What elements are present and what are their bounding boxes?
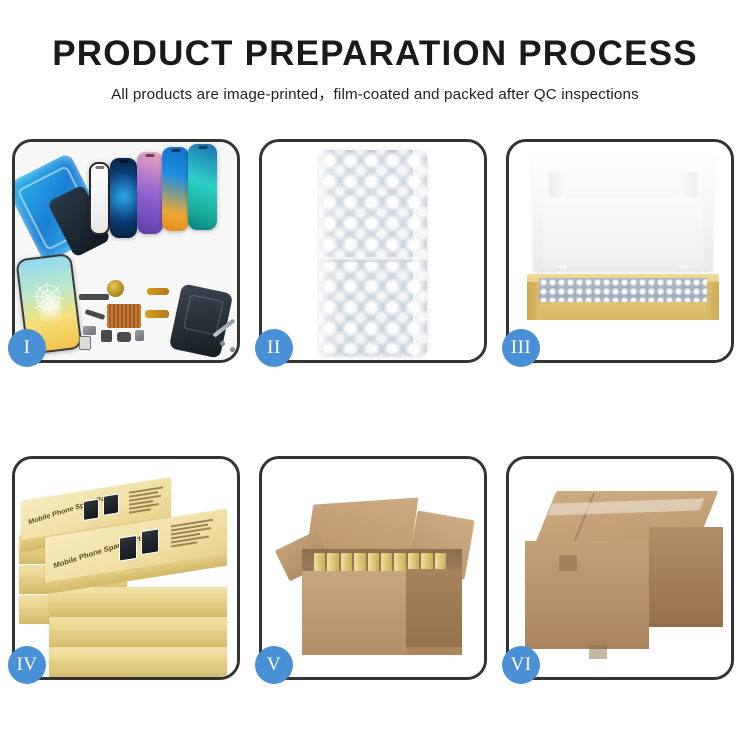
cracked-glass-icon: [28, 277, 68, 317]
bubble-wrapped-contents: [539, 278, 707, 302]
part-ribbon-cable: [85, 309, 106, 320]
retail-box-stack: Mobile Phone Spare Parts Mobile Phon: [19, 475, 237, 675]
part-screw-a: [230, 347, 235, 352]
step-badge-5: V: [255, 646, 293, 684]
phone-display-blue: [110, 158, 137, 238]
page-subtitle: All products are image-printed，film-coat…: [0, 82, 750, 104]
step-panel-6: VI: [506, 456, 734, 680]
step-panel-1: I: [12, 139, 240, 363]
step-badge-6: VI: [502, 646, 540, 684]
carton-right-face: [649, 527, 723, 627]
sealed-shipping-carton: [525, 485, 723, 661]
inner-box-flap-right: [679, 172, 697, 268]
phone-display-teal: [188, 144, 217, 230]
bubble-wrap-seam: [319, 257, 427, 262]
step-badge-2: II: [255, 329, 293, 367]
carton-handle-tab-top: [559, 555, 577, 571]
box-art-screen-rear-b: [103, 493, 119, 516]
open-shipping-carton: [280, 493, 476, 661]
step-panel-3: III: [506, 139, 734, 363]
header: PRODUCT PREPARATION PROCESS All products…: [0, 34, 750, 104]
infographic-page: PRODUCT PREPARATION PROCESS All products…: [0, 0, 750, 750]
step-panel-5: V: [259, 456, 487, 680]
page-title: PRODUCT PREPARATION PROCESS: [0, 34, 750, 73]
part-camera-module: [101, 330, 112, 342]
part-screw-b: [220, 341, 225, 346]
box-art-screen-front-a: [119, 535, 137, 562]
spare-parts-group: [79, 278, 237, 356]
carton-front-face: [525, 541, 649, 649]
bubble-wrap-edge-right: [413, 150, 427, 356]
carton-front-face: [302, 571, 406, 655]
step-image-1: [15, 142, 237, 360]
part-flex-cable-b: [145, 310, 169, 318]
retail-box-spec-rear: [129, 486, 163, 513]
step-image-5: [262, 459, 484, 677]
part-flex-cable-a: [147, 288, 169, 295]
part-bracket: [83, 326, 96, 335]
phone-display-orange: [162, 147, 189, 231]
carton-handle-tab-bottom: [589, 645, 607, 659]
box-art-screen-rear-a: [83, 499, 99, 522]
part-vibration-motor: [117, 332, 131, 342]
part-sim-tray: [135, 330, 144, 341]
phone-display-purple: [137, 152, 163, 234]
inner-box-lid: [533, 154, 713, 272]
inner-box-side-right: [705, 282, 719, 320]
carton-right-face: [406, 569, 462, 647]
part-speaker-coil: [107, 280, 124, 297]
retail-box-r1: [49, 587, 227, 607]
phone-back-housing: [169, 283, 234, 358]
retail-box-r2: [49, 617, 227, 637]
bubble-wrap-sheet: [319, 150, 427, 356]
part-circuit-board: [107, 304, 141, 328]
process-step-grid: I II: [12, 139, 738, 680]
retail-box-r3: [49, 647, 227, 667]
part-connector-strip: [79, 294, 109, 300]
box-art-screen-front-b: [141, 528, 159, 555]
step-panel-2: II: [259, 139, 487, 363]
inner-box-flap-left: [549, 172, 567, 268]
bubble-wrap-edge-left: [319, 150, 333, 356]
retail-box-spec-front: [171, 519, 213, 548]
step-image-2: [262, 142, 484, 360]
phone-screen-glass: [89, 162, 110, 235]
retail-box-label-rear: Mobile Phone Spare Parts: [28, 493, 114, 527]
inner-box-tray: [527, 274, 719, 320]
step-badge-3: III: [502, 329, 540, 367]
step-panel-4: Mobile Phone Spare Parts Mobile Phon: [12, 456, 240, 680]
step-badge-4: IV: [8, 646, 46, 684]
step-image-4: Mobile Phone Spare Parts Mobile Phon: [15, 459, 237, 677]
step-image-6: [509, 459, 731, 677]
part-sim-holder: [79, 336, 91, 350]
step-badge-1: I: [8, 329, 46, 367]
step-image-3: [509, 142, 731, 360]
